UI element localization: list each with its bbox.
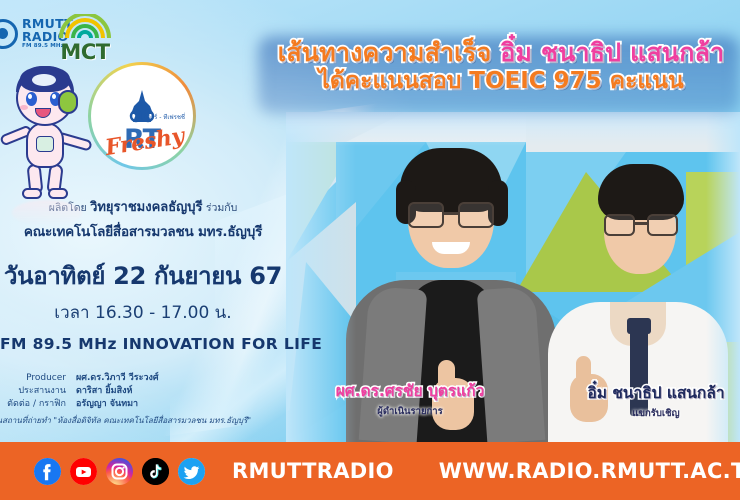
- nameplate-host: ผศ.ดร.ศรชัย บุตรแก้ว ผู้ดำเนินรายการ: [300, 378, 520, 419]
- poster-canvas: เส้นทางความสำเร็จ อิ๋ม ชนาธิป แสนกล้า ได…: [0, 0, 740, 500]
- fm-frequency-slogan: FM 89.5 MHz INNOVATION FOR LIFE: [0, 335, 286, 353]
- facebook-icon[interactable]: [34, 458, 61, 485]
- credit-row: Producer ผศ.ดร.วิภาวี วีระวงศ์: [0, 372, 304, 385]
- headline-line2: ได้คะแนนสอบ TOEIC 975 คะแนน: [318, 68, 683, 94]
- headline-line1-part1: เส้นทางความสำเร็จ: [278, 38, 492, 67]
- credit-row: ประสานงาน ดาริสา ยิ้มสิงห์: [0, 385, 304, 398]
- credits-location-note: ขอบคุณสถานที่ถ่ายทำ "ห้องสื่อดิจิทัล คณะ…: [0, 414, 304, 427]
- broadcast-time: เวลา 16.30 - 17.00 น.: [0, 299, 286, 326]
- rmutt-radio-mark-icon: [0, 19, 18, 49]
- footer-bar: RMUTTRADIO WWW.RADIO.RMUTT.AC.TH: [0, 442, 740, 500]
- nameplate-host-name: ผศ.ดร.ศรชัย บุตรแก้ว: [300, 378, 520, 403]
- credit-name: อรัญญา จันทมา: [76, 398, 138, 411]
- nameplate-guest-role: แขกรับเชิญ: [572, 406, 740, 421]
- tiktok-icon[interactable]: [142, 458, 169, 485]
- credit-role: Producer: [0, 372, 66, 385]
- rt-thai-subtitle: อาร์ - ทีเฟรชชี่: [147, 112, 185, 122]
- credit-role: ตัดต่อ / กราฟิก: [0, 398, 66, 411]
- instagram-icon[interactable]: [106, 458, 133, 485]
- twitter-icon[interactable]: [178, 458, 205, 485]
- footer-handle[interactable]: RMUTTRADIO: [232, 459, 394, 483]
- nameplate-guest-name: อิ๋ม ชนาธิป แสนกล้า: [572, 380, 740, 405]
- footer-website-url[interactable]: WWW.RADIO.RMUTT.AC.TH: [439, 459, 740, 483]
- credit-role: ประสานงาน: [0, 385, 66, 398]
- nameplate-host-role: ผู้ดำเนินรายการ: [300, 404, 520, 419]
- credit-row: ตัดต่อ / กราฟิก อรัญญา จันทมา: [0, 398, 304, 411]
- headline-block: เส้นทางความสำเร็จ อิ๋ม ชนาธิป แสนกล้า ได…: [262, 40, 740, 93]
- mct-logo: MCT: [55, 14, 115, 63]
- mct-arc-icon: [55, 14, 115, 40]
- radio-mascot-character: [2, 64, 94, 204]
- mct-label: MCT: [55, 42, 115, 63]
- credits-block: Producer ผศ.ดร.วิภาวี วีระวงศ์ ประสานงาน…: [0, 372, 304, 427]
- produced-by-suffix: ร่วมกับ: [206, 202, 237, 214]
- credit-name: ผศ.ดร.วิภาวี วีระวงศ์: [76, 372, 159, 385]
- youtube-icon[interactable]: [70, 458, 97, 485]
- credit-name: ดาริสา ยิ้มสิงห์: [76, 385, 132, 398]
- headline-line1-part2: อิ๋ม ชนาธิป แสนกล้า: [500, 38, 724, 67]
- photo-fade-top: [286, 112, 740, 146]
- broadcast-date: วันอาทิตย์ 22 กันยายน 67: [0, 256, 286, 295]
- nameplate-guest: อิ๋ม ชนาธิป แสนกล้า แขกรับเชิญ: [572, 380, 740, 421]
- produced-by-station: วิทยุราชมงคลธัญบุรี: [90, 200, 202, 215]
- mascot-earcup-icon: [58, 90, 78, 114]
- rt-freshy-logo: RT อาร์ - ทีเฟรชชี่ Freshy: [88, 62, 196, 170]
